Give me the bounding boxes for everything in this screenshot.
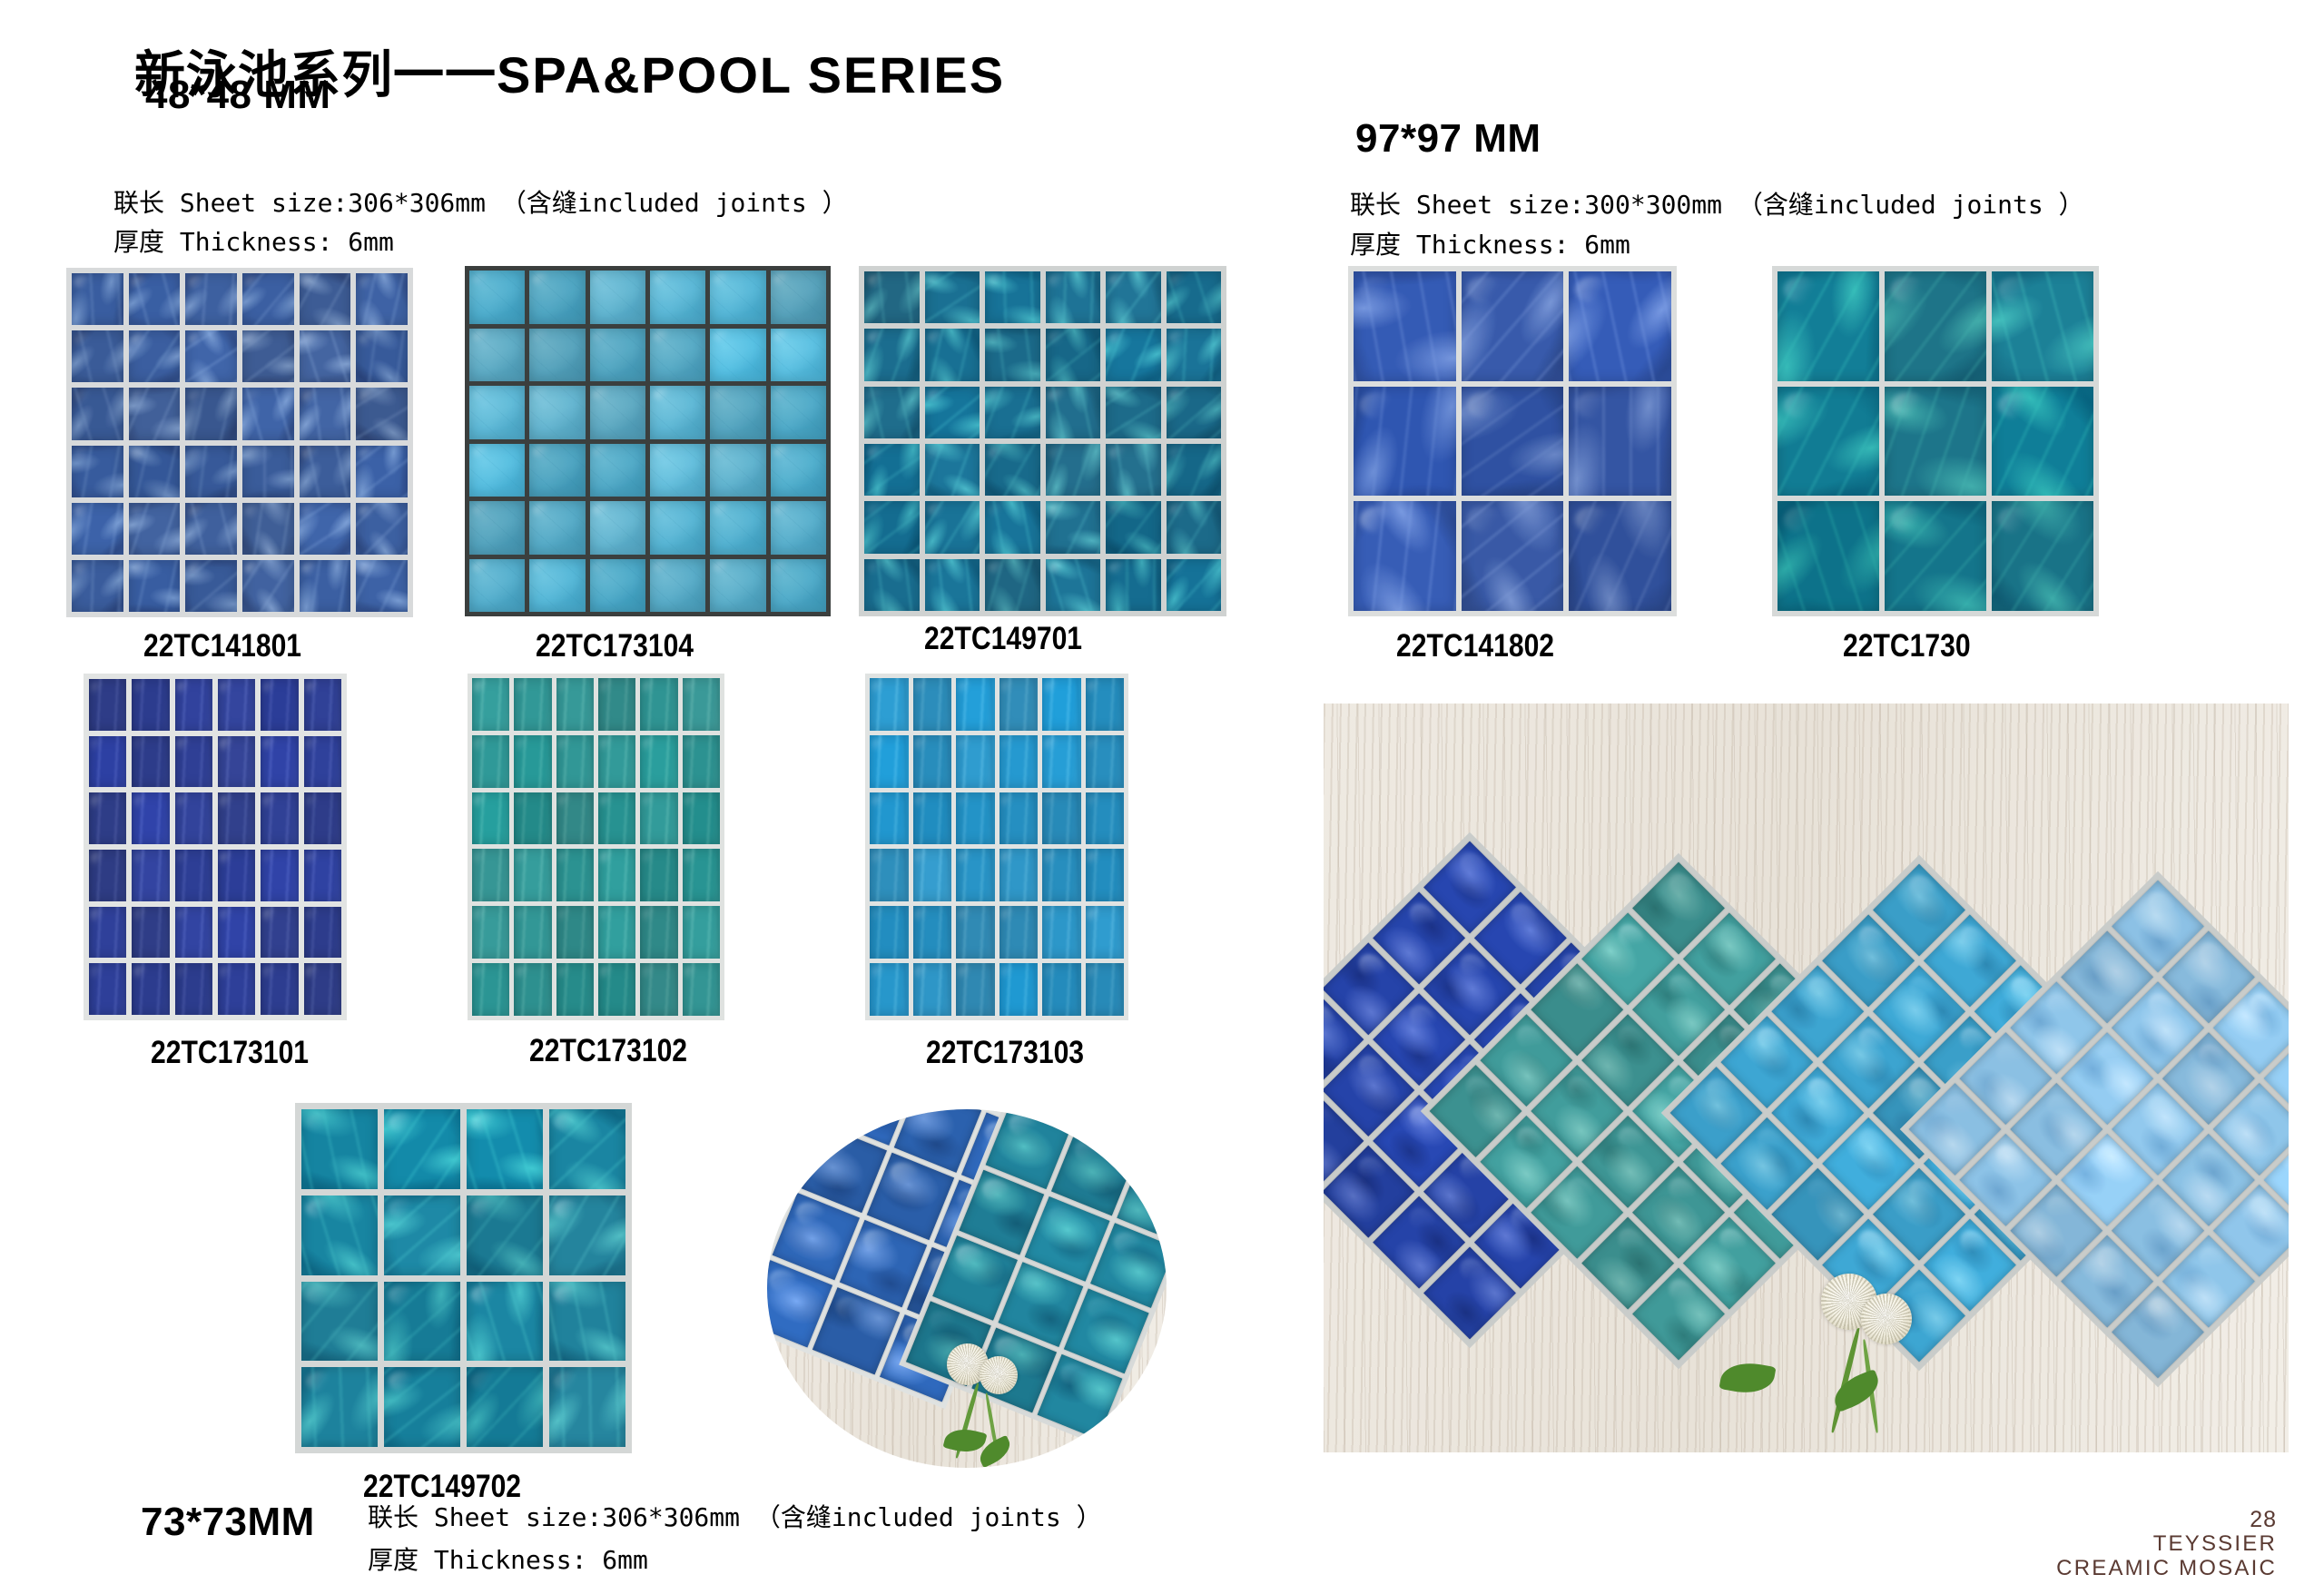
tile-gloss xyxy=(517,966,529,979)
tile-gloss xyxy=(915,851,928,864)
product-swatch-22TC149701[interactable] xyxy=(859,266,1226,616)
product-swatch-22TC173101[interactable] xyxy=(84,674,347,1020)
mosaic-tile xyxy=(301,1282,378,1362)
mosaic-tile xyxy=(870,792,909,845)
mosaic-tile xyxy=(549,1367,625,1447)
mosaic-tile xyxy=(590,386,645,439)
mosaic-tile xyxy=(469,271,525,324)
tile-sheen xyxy=(1018,1267,1054,1299)
tile-gloss xyxy=(1088,738,1100,751)
tile-gloss xyxy=(302,333,320,346)
mosaic-tile xyxy=(472,735,509,788)
mosaic-tile xyxy=(590,329,645,382)
tile-gloss xyxy=(220,738,232,751)
tile-gloss xyxy=(1045,851,1058,864)
tile-gloss xyxy=(872,851,885,864)
tile-gloss xyxy=(554,1199,580,1218)
mosaic-tile xyxy=(89,792,126,844)
tile-gloss xyxy=(643,909,655,921)
tile-gloss xyxy=(714,561,733,574)
tile-gloss xyxy=(473,446,492,458)
tile-gloss xyxy=(1575,507,1610,533)
tile-sheen xyxy=(1070,1136,1107,1168)
mosaic-tile xyxy=(175,736,212,788)
tile-gloss xyxy=(1045,738,1058,751)
mosaic-tile xyxy=(242,330,294,382)
tile-gloss xyxy=(1049,331,1068,344)
mosaic-tile xyxy=(556,678,594,731)
mosaic-tile xyxy=(913,849,952,901)
tile-gloss xyxy=(245,506,262,518)
mosaic-tile xyxy=(529,271,585,324)
mosaic-tile xyxy=(598,906,635,959)
tile-gloss xyxy=(593,561,612,574)
tile-gloss xyxy=(773,330,793,343)
mosaic-tile xyxy=(985,271,1040,323)
mosaic-tile xyxy=(514,963,551,1016)
tile-sheen xyxy=(1512,1122,1549,1159)
mosaic-tile xyxy=(175,963,212,1015)
mosaic-tile xyxy=(261,736,298,788)
tile-gloss xyxy=(132,506,149,518)
mosaic-tile xyxy=(514,678,551,731)
product-swatch-22TC1730[interactable] xyxy=(1772,266,2099,616)
tile-gloss xyxy=(593,273,612,286)
tile-gloss xyxy=(91,682,103,694)
mosaic-tile xyxy=(529,329,585,382)
tile-gloss xyxy=(1169,562,1188,575)
mosaic-tile xyxy=(925,444,980,496)
mosaic-tile xyxy=(710,444,765,497)
tile-sheen xyxy=(2093,938,2130,975)
tile-gloss xyxy=(474,851,487,864)
tile-sheen xyxy=(1455,949,1492,986)
tile-gloss xyxy=(868,447,887,459)
mosaic-tile xyxy=(864,387,920,438)
mosaic-tile xyxy=(72,503,123,555)
tile-gloss xyxy=(220,682,232,694)
mosaic-tile xyxy=(771,444,826,497)
tile-gloss xyxy=(989,389,1008,402)
mosaic-tile xyxy=(218,850,255,901)
product-code-22TC173101: 22TC173101 xyxy=(151,1035,309,1071)
tile-gloss xyxy=(684,909,697,921)
mosaic-tile xyxy=(384,1367,460,1447)
mosaic-tile xyxy=(467,1109,543,1189)
mosaic-tile xyxy=(864,329,920,380)
mosaic-tile xyxy=(300,273,351,325)
tile-gloss xyxy=(74,563,92,576)
mosaic-tile xyxy=(529,386,585,439)
tile-gloss xyxy=(593,330,612,343)
product-swatch-22TC149702[interactable] xyxy=(295,1103,632,1453)
tile-gloss xyxy=(872,681,885,694)
mosaic-tile xyxy=(472,849,509,901)
tile-sheen xyxy=(1803,1175,1840,1212)
tile-gloss xyxy=(558,909,571,921)
mosaic-tile xyxy=(925,387,980,438)
mosaic-tile xyxy=(549,1109,625,1189)
mosaic-tile xyxy=(1992,271,2093,381)
product-swatch-22TC173102[interactable] xyxy=(468,674,724,1020)
mosaic-tile xyxy=(1354,271,1456,381)
tile-sheen xyxy=(1664,969,1701,1007)
tile-gloss xyxy=(1001,851,1014,864)
tile-gloss xyxy=(306,1113,332,1132)
mosaic-tile xyxy=(89,907,126,959)
tile-gloss xyxy=(359,506,377,518)
tile-gloss xyxy=(302,276,320,289)
mosaic-tile xyxy=(556,792,594,845)
mosaic-tile xyxy=(175,907,212,959)
mosaic-tile xyxy=(1106,387,1161,438)
mosaic-tile xyxy=(1046,329,1101,380)
tile-gloss xyxy=(245,276,262,289)
tile-gloss xyxy=(517,909,529,921)
mosaic-tile xyxy=(1462,387,1564,497)
mosaic-tile xyxy=(1569,501,1671,611)
mosaic-tile xyxy=(1777,387,1879,497)
tile-gloss xyxy=(473,561,492,574)
tile-sheen xyxy=(1506,899,1543,936)
tile-gloss xyxy=(1088,681,1100,694)
tile-sheen xyxy=(1455,848,1492,885)
tile-sheen xyxy=(1854,1124,1891,1161)
tile-sheen xyxy=(2042,1191,2079,1228)
mosaic-tile xyxy=(956,735,995,788)
tile-gloss xyxy=(306,738,319,751)
tile-sheen xyxy=(1324,999,1340,1037)
tile-gloss xyxy=(1088,851,1100,864)
mosaic-tile xyxy=(467,1282,543,1362)
mosaic-tile xyxy=(1106,501,1161,553)
product-code-22TC173104: 22TC173104 xyxy=(536,628,694,664)
mosaic-tile xyxy=(710,271,765,324)
mosaic-tile xyxy=(1000,792,1039,845)
tile-gloss xyxy=(474,738,487,751)
mosaic-tile xyxy=(1046,501,1101,553)
tile-gloss xyxy=(1169,274,1188,287)
mosaic-tile xyxy=(261,907,298,959)
mosaic-tile xyxy=(529,501,585,555)
mosaic-tile xyxy=(472,792,509,845)
mosaic-tile xyxy=(650,386,705,439)
mosaic-tile xyxy=(356,503,408,555)
mosaic-tile xyxy=(185,330,237,382)
mosaic-tile xyxy=(913,963,952,1016)
mosaic-tile xyxy=(1046,559,1101,611)
tile-gloss xyxy=(263,966,276,979)
product-swatch-22TC173103[interactable] xyxy=(865,674,1128,1020)
tile-gloss xyxy=(359,448,377,460)
product-code-22TC173103: 22TC173103 xyxy=(926,1035,1084,1071)
mosaic-tile xyxy=(469,501,525,555)
mosaic-tile xyxy=(1885,387,1986,497)
mosaic-tile xyxy=(304,850,341,901)
product-swatch-22TC141802[interactable] xyxy=(1348,266,1677,616)
tile-gloss xyxy=(474,681,487,694)
mosaic-tile xyxy=(1042,678,1081,731)
tile-sheen xyxy=(2194,1038,2231,1076)
mosaic-tile xyxy=(598,735,635,788)
mosaic-tile xyxy=(1569,387,1671,497)
mosaic-tile xyxy=(1042,906,1081,959)
tile-gloss xyxy=(177,682,190,694)
mosaic-tile xyxy=(1042,735,1081,788)
mosaic-tile xyxy=(129,560,181,612)
tile-gloss xyxy=(220,966,232,979)
mosaic-tile xyxy=(300,560,351,612)
tile-gloss xyxy=(558,795,571,808)
tile-sheen xyxy=(1905,971,1942,1009)
tile-gloss xyxy=(714,273,733,286)
tile-sheen xyxy=(1854,1022,1891,1059)
mosaic-tile xyxy=(261,792,298,844)
mosaic-tile xyxy=(1167,559,1222,611)
tile-gloss xyxy=(1109,504,1128,517)
tile-gloss xyxy=(868,504,887,517)
tile-gloss xyxy=(473,389,492,401)
tile-gloss xyxy=(928,504,947,517)
tile-gloss xyxy=(1998,392,2033,418)
tile-gloss xyxy=(959,738,971,751)
tile-sheen xyxy=(1940,1089,1977,1127)
mosaic-tile xyxy=(683,735,720,788)
mosaic-tile xyxy=(1046,387,1101,438)
tile-gloss xyxy=(773,273,793,286)
mosaic-tile xyxy=(72,388,123,439)
tile-gloss xyxy=(643,738,655,751)
product-swatch-22TC173104[interactable] xyxy=(465,266,831,616)
tile-gloss xyxy=(306,966,319,979)
tile-gloss xyxy=(74,506,92,518)
mosaic-tile xyxy=(598,678,635,731)
mosaic-tile xyxy=(132,963,169,1015)
mosaic-tile xyxy=(925,559,980,611)
tile-gloss xyxy=(177,738,190,751)
tile-sheen xyxy=(1664,1173,1701,1210)
mosaic-tile xyxy=(598,849,635,901)
mosaic-tile xyxy=(913,906,952,959)
tile-gloss xyxy=(1045,795,1058,808)
mosaic-tile xyxy=(356,560,408,612)
oval-product-photo xyxy=(767,1109,1167,1468)
tile-gloss xyxy=(643,966,655,979)
tile-gloss xyxy=(1001,909,1014,921)
mosaic-tile xyxy=(864,559,920,611)
tile-gloss xyxy=(989,504,1008,517)
mosaic-tile xyxy=(771,501,826,555)
mosaic-tile xyxy=(218,963,255,1015)
mosaic-tile xyxy=(985,501,1040,553)
mosaic-tile xyxy=(710,501,765,555)
tile-sheen xyxy=(952,1241,989,1273)
tile-gloss xyxy=(245,448,262,460)
tile-gloss xyxy=(915,966,928,979)
tile-gloss xyxy=(643,681,655,694)
tile-gloss xyxy=(471,1372,497,1391)
tile-gloss xyxy=(177,966,190,979)
mosaic-tile xyxy=(218,907,255,959)
mosaic-tile xyxy=(185,388,237,439)
tile-gloss xyxy=(91,852,103,865)
mosaic-tile xyxy=(710,386,765,439)
mosaic-tile xyxy=(913,678,952,731)
tile-gloss xyxy=(558,738,571,751)
mosaic-tile xyxy=(1354,501,1456,611)
mosaic-tile xyxy=(242,446,294,497)
tile-gloss xyxy=(389,1285,415,1304)
tile-gloss xyxy=(1467,392,1502,418)
mosaic-tile xyxy=(985,387,1040,438)
tile-gloss xyxy=(132,333,149,346)
tile-gloss xyxy=(134,909,147,921)
tile-gloss xyxy=(1088,795,1100,808)
mosaic-tile xyxy=(304,963,341,1015)
mosaic-tile xyxy=(650,271,705,324)
tile-gloss xyxy=(91,966,103,979)
tile-gloss xyxy=(554,1372,580,1391)
tile-gloss xyxy=(1109,331,1128,344)
mosaic-tile xyxy=(472,678,509,731)
mosaic-tile xyxy=(683,849,720,901)
tile-gloss xyxy=(1045,966,1058,979)
page-number: 28 xyxy=(2056,1507,2277,1532)
tile-gloss xyxy=(1049,562,1068,575)
tile-gloss xyxy=(306,1372,332,1391)
mosaic-tile xyxy=(913,792,952,845)
sheet-size-48: 联长 Sheet size:306*306mm （含缝included join… xyxy=(113,183,848,220)
tile-gloss xyxy=(1360,277,1394,303)
tile-sheen xyxy=(887,1158,924,1191)
tile-gloss xyxy=(593,446,612,458)
mosaic-tile xyxy=(771,271,826,324)
mosaic-tile xyxy=(129,388,181,439)
mosaic-tile xyxy=(1569,271,1671,381)
mosaic-tile xyxy=(590,271,645,324)
tile-gloss xyxy=(302,390,320,403)
mosaic-tile xyxy=(1885,271,1986,381)
mosaic-tile xyxy=(556,735,594,788)
tile-gloss xyxy=(654,446,673,458)
mosaic-tile xyxy=(72,273,123,325)
product-code-22TC173102: 22TC173102 xyxy=(529,1033,687,1069)
tile-sheen xyxy=(1803,1073,1840,1110)
tile-gloss xyxy=(868,389,887,402)
mosaic-tile xyxy=(1000,963,1039,1016)
tile-gloss xyxy=(134,852,147,865)
mosaic-tile xyxy=(129,446,181,497)
mosaic-tile xyxy=(864,501,920,553)
flower-head xyxy=(1861,1294,1912,1344)
mosaic-tile xyxy=(1777,501,1879,611)
flower-leaf xyxy=(943,1424,988,1457)
tile-sheen xyxy=(1455,1254,1492,1291)
product-swatch-22TC141801[interactable] xyxy=(66,268,413,617)
tile-gloss xyxy=(928,274,947,287)
tile-gloss xyxy=(533,273,552,286)
mosaic-tile xyxy=(1354,387,1456,497)
tile-gloss xyxy=(714,389,733,401)
tile-gloss xyxy=(359,333,377,346)
tile-gloss xyxy=(220,909,232,921)
mosaic-tile xyxy=(356,388,408,439)
tile-sheen xyxy=(1110,1228,1147,1260)
tile-gloss xyxy=(177,852,190,865)
tile-sheen xyxy=(832,1293,870,1325)
tile-sheen xyxy=(2194,1242,2231,1279)
tile-gloss xyxy=(558,966,571,979)
mosaic-tile xyxy=(72,446,123,497)
tile-gloss xyxy=(554,1113,580,1132)
tile-gloss xyxy=(517,738,529,751)
tile-sheen xyxy=(2244,988,2281,1025)
tile-gloss xyxy=(1575,277,1610,303)
tile-gloss xyxy=(915,738,928,751)
brand-tagline: CREAMIC MOSAIC xyxy=(2056,1557,2277,1581)
mosaic-tile xyxy=(1992,387,2093,497)
tile-gloss xyxy=(714,446,733,458)
mosaic-tile xyxy=(1042,849,1081,901)
mosaic-tile xyxy=(384,1109,460,1189)
mosaic-tile xyxy=(185,503,237,555)
mosaic-tile xyxy=(870,963,909,1016)
mosaic-tile xyxy=(771,559,826,613)
tile-sheen xyxy=(1715,920,1752,957)
tile-sheen xyxy=(767,1265,803,1298)
tile-gloss xyxy=(554,1285,580,1304)
tile-sheen xyxy=(1404,899,1442,936)
mosaic-tile xyxy=(72,330,123,382)
tile-gloss xyxy=(654,330,673,343)
tile-gloss xyxy=(533,330,552,343)
hero-lifestyle-photo xyxy=(1324,704,2289,1452)
mosaic-tile xyxy=(1167,271,1222,323)
tile-sheen xyxy=(1562,1173,1600,1210)
tile-sheen xyxy=(1905,1175,1942,1212)
flower-decoration xyxy=(1861,1294,1912,1344)
mosaic-tile xyxy=(1462,271,1564,381)
mosaic-tile xyxy=(218,679,255,731)
mosaic-tile xyxy=(132,792,169,844)
mosaic-tile xyxy=(683,678,720,731)
mosaic-tile xyxy=(956,906,995,959)
mosaic-tile xyxy=(556,906,594,959)
mosaic-tile xyxy=(242,560,294,612)
tile-sheen xyxy=(1404,1203,1442,1240)
tile-sheen xyxy=(979,1176,1015,1207)
product-code-22TC141802: 22TC141802 xyxy=(1396,628,1554,664)
tile-gloss xyxy=(654,273,673,286)
mosaic-tile xyxy=(640,849,677,901)
mosaic-tile xyxy=(89,679,126,731)
mosaic-tile xyxy=(1000,849,1039,901)
tile-gloss xyxy=(1109,562,1128,575)
tile-gloss xyxy=(302,563,320,576)
tile-sheen xyxy=(1613,920,1650,957)
mosaic-tile xyxy=(1086,849,1125,901)
tile-gloss xyxy=(928,331,947,344)
mosaic-tile xyxy=(261,963,298,1015)
tile-gloss xyxy=(643,795,655,808)
mosaic-tile xyxy=(598,963,635,1016)
mosaic-tile xyxy=(985,329,1040,380)
mosaic-tile xyxy=(300,446,351,497)
mosaic-tile xyxy=(304,736,341,788)
tile-gloss xyxy=(558,681,571,694)
tile-sheen xyxy=(2194,938,2231,975)
mosaic-tile xyxy=(1167,329,1222,380)
